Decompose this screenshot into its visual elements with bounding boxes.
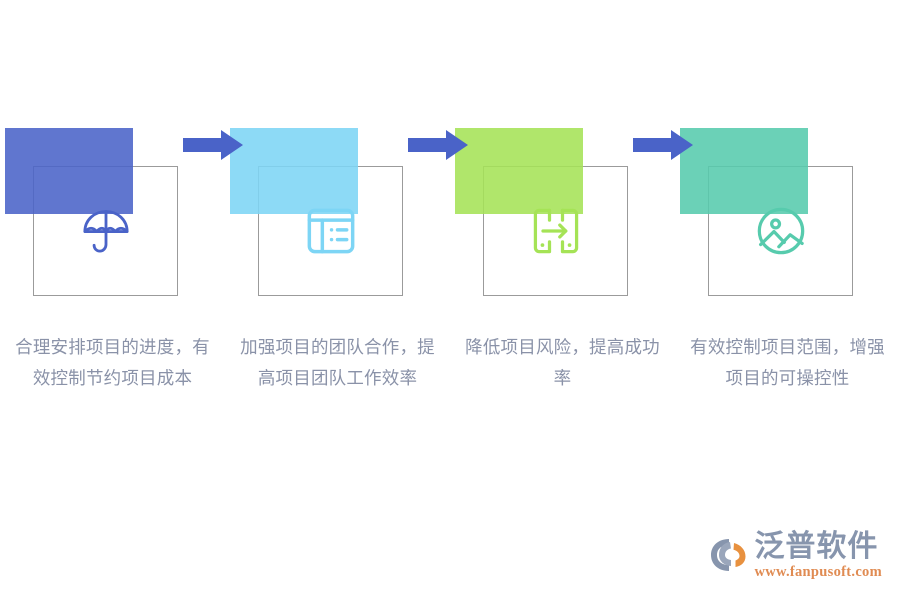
image-circle-icon [708, 166, 853, 296]
document-list-icon [258, 166, 403, 296]
umbrella-icon [33, 166, 178, 296]
steps-row: 合理安排项目的进度，有效控制节约项目成本 [0, 0, 900, 600]
step-caption-3: 降低项目风险，提高成功率 [460, 332, 665, 394]
arrow-right-icon-2 [408, 128, 470, 162]
brand-text-block: 泛普软件 www.fanpusoft.com [754, 531, 882, 580]
step-visual-4 [675, 128, 900, 298]
data-transfer-icon [483, 166, 628, 296]
fanpu-logo-icon [710, 536, 750, 574]
step-caption-1: 合理安排项目的进度，有效控制节约项目成本 [10, 332, 215, 394]
step-caption-2: 加强项目的团队合作，提高项目团队工作效率 [235, 332, 440, 394]
step-card-4: 有效控制项目范围，增强项目的可操控性 [675, 0, 900, 600]
arrow-right-icon-3 [633, 128, 695, 162]
step-card-2: 加强项目的团队合作，提高项目团队工作效率 [225, 0, 450, 600]
step-card-3: 降低项目风险，提高成功率 [450, 0, 675, 600]
arrow-right-icon-1 [183, 128, 245, 162]
brand-name: 泛普软件 [754, 531, 878, 563]
step-caption-4: 有效控制项目范围，增强项目的可操控性 [685, 332, 890, 394]
step-card-1: 合理安排项目的进度，有效控制节约项目成本 [0, 0, 225, 600]
illustration-canvas: 合理安排项目的进度，有效控制节约项目成本 [0, 0, 900, 600]
brand-url: www.fanpusoft.com [754, 564, 882, 580]
brand-logo: 泛普软件 www.fanpusoft.com [710, 526, 882, 584]
